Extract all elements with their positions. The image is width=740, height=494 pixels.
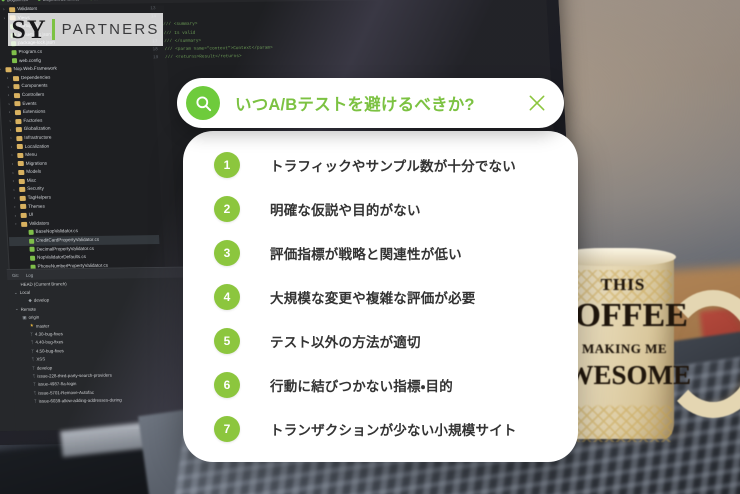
tree-node-label: TagHelpers: [28, 196, 52, 201]
branch-icon: ᛉ: [34, 399, 37, 404]
git-branch-label: issue-6039-allow-adding-addresses-during: [39, 398, 122, 404]
tree-node-label: Components: [21, 84, 47, 89]
git-branch-label: issue-228-third-party-search-providers: [37, 373, 112, 379]
chevron-down-icon: ⌄: [15, 306, 19, 312]
branch-icon: ᛉ: [32, 357, 35, 362]
tree-node-label: Validators: [17, 7, 37, 12]
branch-icon: ᛉ: [31, 340, 34, 345]
folder-icon: [21, 222, 27, 227]
csharp-file-icon: [29, 247, 34, 252]
list-item: 5テスト以外の方法が適切: [214, 319, 562, 363]
branch-icon: ᛉ: [30, 332, 33, 337]
git-branch-label: origin: [28, 315, 39, 320]
item-number-badge: 4: [214, 284, 240, 310]
folder-icon: ▣: [22, 315, 26, 321]
folder-icon: [16, 136, 22, 141]
star-icon: ★: [30, 323, 34, 329]
tree-node-label: Infrastructure: [24, 136, 51, 141]
folder-icon: [17, 153, 23, 158]
folder-icon: [13, 76, 19, 81]
item-number-badge: 6: [214, 372, 240, 398]
tree-node-label: Globalization: [24, 127, 51, 132]
ide-tab: BlogStoreContext.cs: [38, 0, 80, 1]
coffee-mug: THIS COFFEE IS MAKING ME AWESOME: [556, 246, 736, 441]
folder-icon: [19, 179, 25, 184]
tree-node-label: Models: [26, 170, 41, 175]
git-panel: Git: Log HEAD (Current Branch)⌄Local◆dev…: [7, 267, 199, 432]
list-item: 4大規模な変更や複雑な評価が必要: [214, 275, 562, 319]
folder-icon: [14, 101, 20, 106]
logo-divider: [52, 19, 55, 40]
flag-icon: ⚑: [0, 127, 1, 133]
tree-node-label: Nop.Web.Framework: [13, 67, 57, 72]
reasons-list: 1トラフィックやサンプル数が十分でない2明確な仮説や目的がない3評価指標が戦略と…: [214, 143, 562, 451]
search-icon[interactable]: [186, 86, 220, 120]
tree-node-label: Misc: [27, 179, 37, 184]
folder-icon: [14, 93, 20, 98]
tree-node-label: Events: [22, 101, 36, 106]
tree-node-label: Migrations: [26, 161, 47, 166]
csharp-file-icon: [29, 230, 34, 235]
folder-icon: [13, 84, 19, 89]
git-branch-label: master: [36, 323, 50, 328]
branch-icon: ᛉ: [33, 382, 36, 387]
tree-node-label: Validators: [29, 221, 49, 226]
folder-icon: [15, 110, 21, 115]
logo-secondary-text: PARTNERS: [62, 22, 160, 37]
git-branch-label: 4.50-bug-fixes: [36, 348, 64, 353]
git-branch-label: 4.40-bug-fixes: [35, 340, 63, 345]
tree-node-label: Extensions: [23, 110, 46, 115]
git-branch-label: issue-4987-8a-login: [38, 381, 77, 387]
csharp-file-icon: [11, 50, 16, 55]
git-branch-label: Remote: [20, 307, 36, 312]
brand-logo: SY PARTNERS: [8, 13, 163, 46]
folder-icon: [9, 7, 15, 12]
list-item: 2明確な仮説や目的がない: [214, 187, 562, 231]
slide-canvas: Post.csBlogItem.csBlogStoreContext.csMai…: [0, 0, 740, 494]
item-label: 行動に結びつかない指標・目的: [270, 375, 453, 395]
ide-tab-label: BlogItem.cs: [7, 0, 28, 2]
branch-icon: ᛉ: [33, 374, 36, 379]
tree-node-label: Dependencies: [21, 75, 51, 80]
list-item: 3評価指標が戦略と関連性が低い: [214, 231, 562, 275]
csharp-file-icon: [29, 239, 34, 244]
git-branch-label: HEAD (Current Branch): [20, 281, 66, 287]
tree-node-label: BaseNopValidator.cs: [36, 230, 79, 235]
item-number-badge: 2: [214, 196, 240, 222]
tree-node-label: NopValidatorDefaults.cs: [37, 255, 86, 260]
tree-node-label: Program.cs: [18, 50, 42, 55]
item-label: 評価指標が戦略と関連性が低い: [270, 243, 462, 263]
item-label: テスト以外の方法が適切: [270, 331, 421, 351]
git-branch-label: develop: [34, 298, 50, 303]
git-branch-row: ᛉissue-6039-allow-adding-addresses-durin…: [14, 395, 197, 406]
tree-node-label: CreditCardPropertyValidator.cs: [36, 238, 99, 243]
folder-icon: [15, 119, 21, 124]
list-item: 7トランザクションが少ない小規模サイト: [214, 407, 562, 451]
git-branch-label: issue-5701-Remove-Autofac: [38, 390, 94, 396]
item-number-badge: 1: [214, 152, 240, 178]
ide-tab: MainController.cs: [89, 0, 125, 1]
folder-icon: [19, 187, 25, 192]
tree-node-label: web.config: [19, 58, 41, 63]
item-label: トラフィックやサンプル数が十分でない: [270, 155, 516, 175]
list-item: 1トラフィックやサンプル数が十分でない: [214, 143, 562, 187]
code-line-text: /// <param name="context">Context</param…: [165, 46, 273, 53]
folder-icon: [21, 213, 27, 218]
logo-primary-text: SY: [11, 17, 46, 43]
csharp-file-icon: [12, 58, 17, 63]
tree-node-label: Factories: [23, 118, 42, 123]
tree-node-label: Menu: [25, 153, 37, 158]
ide-tab-label: MainController.cs: [94, 0, 125, 1]
tag-icon: ◆: [28, 298, 32, 304]
branch-icon: ᛉ: [31, 348, 34, 353]
ide-tab-label: BlogStoreContext.cs: [43, 0, 80, 1]
ide-tab: BlogItem.cs: [2, 0, 28, 2]
git-panel-label: Git:: [12, 272, 19, 277]
line-number: 18: [152, 46, 164, 54]
git-branch-label: 4.30-bug-fixes: [35, 331, 63, 336]
git-branch-label: Local: [20, 290, 31, 295]
git-log-tab: Log: [26, 272, 34, 277]
code-line-text: /// <returns>Result</returns>: [165, 54, 242, 60]
item-label: 大規模な変更や複雑な評価が必要: [270, 287, 476, 307]
tree-node-label: Security: [27, 187, 44, 192]
reasons-list-card: 1トラフィックやサンプル数が十分でない2明確な仮説や目的がない3評価指標が戦略と…: [183, 131, 578, 462]
git-branch-label: XSS: [36, 357, 45, 362]
line-number: 19: [153, 54, 165, 62]
git-branch-list: HEAD (Current Branch)⌄Local◆develop⌄Remo…: [7, 278, 196, 406]
item-number-badge: 7: [214, 416, 240, 442]
tree-node-label: Controllers: [22, 93, 44, 98]
branch-icon: ᛉ: [33, 390, 36, 395]
item-number-badge: 3: [214, 240, 240, 266]
item-number-badge: 5: [214, 328, 240, 354]
mug-text-line-1: THIS: [572, 276, 674, 293]
list-item: 6行動に結びつかない指標・目的: [214, 363, 562, 407]
item-label: トランザクションが少ない小規模サイト: [270, 419, 517, 439]
chevron-down-icon: ⌄: [14, 290, 18, 296]
tree-node-label: Themes: [28, 204, 45, 209]
git-branch-label: develop: [37, 365, 53, 370]
code-line-text: /// <summary>: [163, 22, 198, 27]
question-header-pill: いつA/Bテストを避けるべきか?: [177, 78, 564, 128]
tree-node-label: UI: [29, 213, 34, 218]
branch-icon: ᛉ: [32, 365, 35, 370]
folder-icon: [20, 196, 26, 201]
folder-icon: [17, 144, 23, 149]
item-label: 明確な仮説や目的がない: [270, 199, 421, 219]
tree-node-label: Localization: [25, 144, 50, 149]
csharp-file-icon: [30, 256, 35, 261]
folder-icon: [18, 161, 24, 166]
code-line-text: /// </summary>: [164, 38, 201, 44]
folder-icon: [20, 204, 26, 209]
close-icon[interactable]: [526, 92, 548, 114]
code-line-text: /// Is valid: [164, 30, 196, 35]
page-title: いつA/Bテストを避けるべきか?: [235, 91, 526, 115]
folder-icon: [16, 127, 22, 132]
folder-icon: [5, 67, 11, 72]
tree-node-label: DecimalPropertyValidator.cs: [36, 247, 94, 252]
folder-icon: [18, 170, 24, 175]
